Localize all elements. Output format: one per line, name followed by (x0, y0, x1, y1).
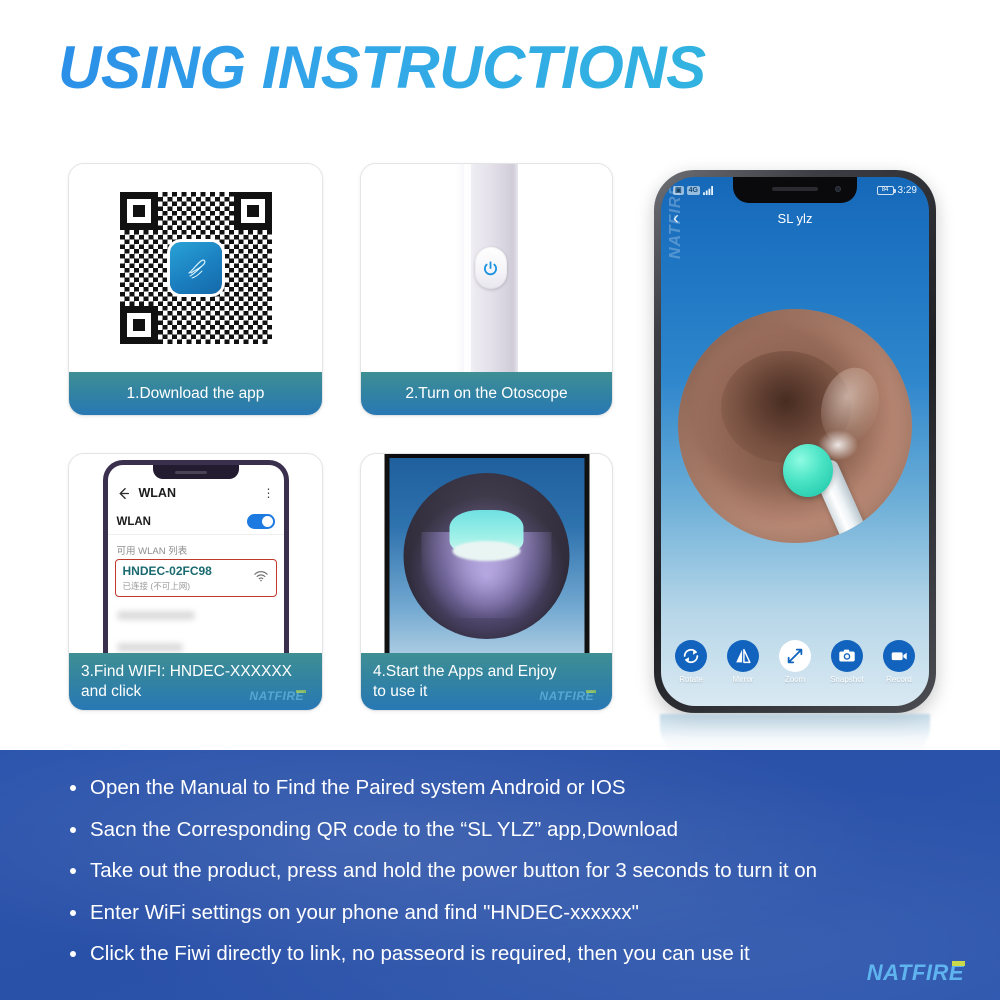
step-2-caption-text: 2.Turn on the Otoscope (405, 384, 567, 403)
wlan-available-list-label: 可用 WLAN 列表 (117, 543, 188, 557)
toolbar-label-rotate: Rotate (679, 675, 703, 684)
wifi-icon (254, 571, 268, 582)
step-card-4-caption: 4.Start the Apps and Enjoy to use it NAT… (361, 653, 612, 710)
page-title: USING INSTRUCTIONS (58, 33, 706, 102)
phone-toolbar: Rotate Mirror (661, 638, 929, 700)
bullet-text: Sacn the Corresponding QR code to the “S… (90, 818, 678, 843)
wlan-blurred-row (117, 611, 195, 620)
eardrum-highlight (453, 541, 521, 561)
mirror-button[interactable] (727, 640, 759, 672)
signal-4g-icon: 4G (687, 186, 700, 195)
wlan-phone-frame: WLAN ⋮ WLAN 可用 WLAN 列表 HNDEC-02FC98 已连接 … (103, 460, 289, 668)
power-icon (482, 260, 499, 277)
status-bar-right-icons: 84 3:29 (877, 185, 917, 196)
watermark-accent-bar (586, 690, 596, 693)
list-item: Take out the product, press and hold the… (70, 859, 960, 884)
record-icon (889, 646, 909, 666)
qr-finder-top-left (120, 192, 158, 230)
otoscope-view-circle (404, 473, 570, 639)
snapshot-button[interactable] (831, 640, 863, 672)
status-bar-left-icons: ▣ 4G (673, 186, 714, 195)
wlan-header: WLAN ⋮ (108, 481, 284, 505)
qr-finder-top-right (234, 192, 272, 230)
otoscope-view-area (361, 454, 612, 653)
wlan-selected-network[interactable]: HNDEC-02FC98 已连接 (不可上网) (115, 559, 277, 597)
snapshot-icon (837, 646, 857, 666)
otoscope-view-screen (389, 458, 584, 653)
sl-ylz-app-icon (170, 242, 222, 294)
wlan-header-title: WLAN (139, 486, 177, 500)
record-button[interactable] (883, 640, 915, 672)
phone-status-bar: ▣ 4G 84 3:29 (661, 181, 929, 199)
step-card-3-body: WLAN ⋮ WLAN 可用 WLAN 列表 HNDEC-02FC98 已连接 … (69, 454, 322, 710)
phone-app-title: SL ylz (661, 211, 929, 226)
wlan-blurred-row (117, 643, 183, 652)
phone-screen: ▣ 4G 84 3:29 ‹ SL ylz NATFIRE (661, 177, 929, 706)
app-glyph-icon (179, 251, 213, 285)
qr-finder-bottom-left (120, 306, 158, 344)
watermark-accent-bar (296, 690, 306, 693)
otoscope-view-phone-frame (384, 454, 589, 653)
step-4-caption-text: 4.Start the Apps and Enjoy to use it (373, 662, 557, 701)
list-item: Enter WiFi settings on your phone and fi… (70, 901, 960, 926)
battery-icon: 84 (877, 186, 894, 195)
rotate-button[interactable] (675, 640, 707, 672)
zoom-button[interactable] (779, 640, 811, 672)
otoscope-probe-tip (783, 444, 833, 497)
rotate-icon (681, 646, 701, 666)
step-card-2-caption: 2.Turn on the Otoscope (361, 372, 612, 415)
list-item: Click the Fiwi directly to link, no pass… (70, 942, 960, 967)
bullet-dot-icon (70, 951, 76, 957)
bullet-text: Enter WiFi settings on your phone and fi… (90, 901, 639, 926)
bullet-text: Open the Manual to Find the Paired syste… (90, 776, 626, 801)
brand-logo: NATFIRE (867, 960, 965, 986)
wlan-status-text: 已连接 (不可上网) (123, 580, 269, 592)
step-card-1-caption: 1.Download the app (69, 372, 322, 415)
bottom-info-panel: Open the Manual to Find the Paired syste… (0, 750, 1000, 1000)
bullet-dot-icon (70, 785, 76, 791)
kebab-menu-icon[interactable]: ⋮ (263, 491, 275, 496)
battery-level-label: 84 (882, 187, 889, 193)
toolbar-label-zoom: Zoom (785, 675, 805, 684)
ear-canal-view (678, 309, 912, 543)
wlan-toggle-row[interactable]: WLAN (108, 509, 284, 535)
toolbar-item-snapshot[interactable]: Snapshot (825, 640, 869, 684)
step-card-4-body: 4.Start the Apps and Enjoy to use it NAT… (361, 454, 612, 710)
otoscope-body (456, 164, 518, 372)
toolbar-item-record[interactable]: Record (877, 640, 921, 684)
step-card-3[interactable]: WLAN ⋮ WLAN 可用 WLAN 列表 HNDEC-02FC98 已连接 … (68, 453, 323, 711)
brand-logo-wrap: NATFIRE (867, 960, 965, 986)
step-card-2[interactable]: 2.Turn on the Otoscope (360, 163, 613, 416)
bullet-text: Take out the product, press and hold the… (90, 859, 817, 884)
list-item: Open the Manual to Find the Paired syste… (70, 776, 960, 801)
wlan-toggle-label: WLAN (117, 516, 152, 528)
instruction-bullet-list: Open the Manual to Find the Paired syste… (70, 776, 960, 984)
wlan-toggle-switch[interactable] (247, 514, 275, 529)
toolbar-item-zoom[interactable]: Zoom (773, 640, 817, 684)
qr-code-image (120, 192, 272, 344)
brand-logo-text: NATFIRE (867, 960, 964, 985)
bullet-dot-icon (70, 910, 76, 916)
bullet-dot-icon (70, 827, 76, 833)
toolbar-label-record: Record (886, 675, 912, 684)
wlan-screenshot-area: WLAN ⋮ WLAN 可用 WLAN 列表 HNDEC-02FC98 已连接 … (69, 454, 322, 653)
otoscope-device-area (361, 164, 612, 372)
step-card-1-body: 1.Download the app (69, 164, 322, 415)
toolbar-label-snapshot: Snapshot (830, 675, 864, 684)
status-bar-time: 3:29 (898, 185, 917, 196)
image-icon: ▣ (673, 186, 684, 195)
toolbar-item-rotate[interactable]: Rotate (669, 640, 713, 684)
back-arrow-icon[interactable] (117, 487, 130, 500)
mirror-icon (733, 646, 753, 666)
toolbar-label-mirror: Mirror (733, 675, 754, 684)
step-card-3-caption: 3.Find WIFI: HNDEC-XXXXXX and click NATF… (69, 653, 322, 710)
power-button[interactable] (475, 247, 507, 289)
phone-mockup: ▣ 4G 84 3:29 ‹ SL ylz NATFIRE (654, 170, 936, 713)
step-1-caption-text: 1.Download the app (127, 384, 265, 403)
step-3-caption-text: 3.Find WIFI: HNDEC-XXXXXX and click (81, 662, 292, 701)
signal-bars-icon (703, 186, 714, 195)
qr-code-area (69, 164, 322, 372)
zoom-icon (785, 646, 805, 666)
brand-logo-accent-bar (952, 961, 965, 966)
bullet-dot-icon (70, 868, 76, 874)
phone-app-bar: ‹ SL ylz (661, 205, 929, 231)
step-card-1[interactable]: 1.Download the app (68, 163, 323, 416)
step-card-2-body: 2.Turn on the Otoscope (361, 164, 612, 415)
wlan-phone-notch (153, 465, 239, 479)
step-card-4[interactable]: 4.Start the Apps and Enjoy to use it NAT… (360, 453, 613, 711)
toolbar-item-mirror[interactable]: Mirror (721, 640, 765, 684)
bullet-text: Click the Fiwi directly to link, no pass… (90, 942, 750, 967)
list-item: Sacn the Corresponding QR code to the “S… (70, 818, 960, 843)
wlan-ssid-text: HNDEC-02FC98 (123, 564, 269, 578)
